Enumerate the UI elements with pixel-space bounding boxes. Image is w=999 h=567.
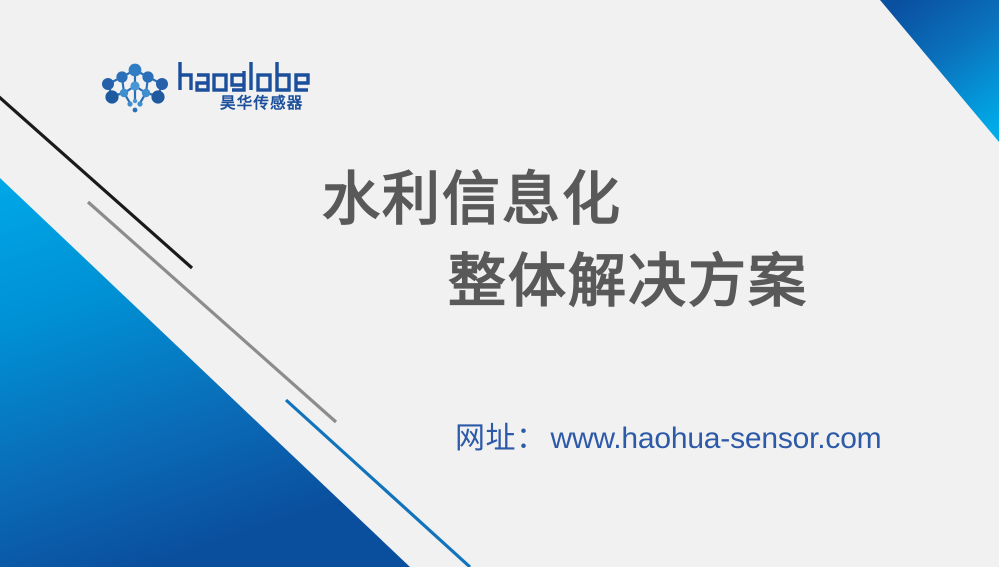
haoglobe-wordmark-icon (176, 58, 326, 94)
logo-sub-text: 昊华传感器 (220, 94, 304, 112)
brand-logo: 昊华传感器 (96, 58, 326, 120)
title-line-2: 整体解决方案 (0, 240, 999, 322)
top-right-triangle-shape (880, 0, 999, 142)
title-line-1: 水利信息化 (0, 158, 999, 240)
website-label: 网址： (455, 421, 547, 457)
blue-diagonal-line (286, 400, 470, 567)
slide-title: 水利信息化 整体解决方案 (0, 158, 999, 322)
haoglobe-network-mark (96, 60, 174, 116)
website-url: www.haohua-sensor.com (551, 421, 882, 457)
logo-text-group: 昊华传感器 (176, 58, 326, 116)
website-line: 网址： www.haohua-sensor.com (455, 421, 881, 457)
slide-canvas: 昊华传感器 水利信息化 整体解决方案 网址： www.haohua-sensor… (0, 0, 999, 567)
